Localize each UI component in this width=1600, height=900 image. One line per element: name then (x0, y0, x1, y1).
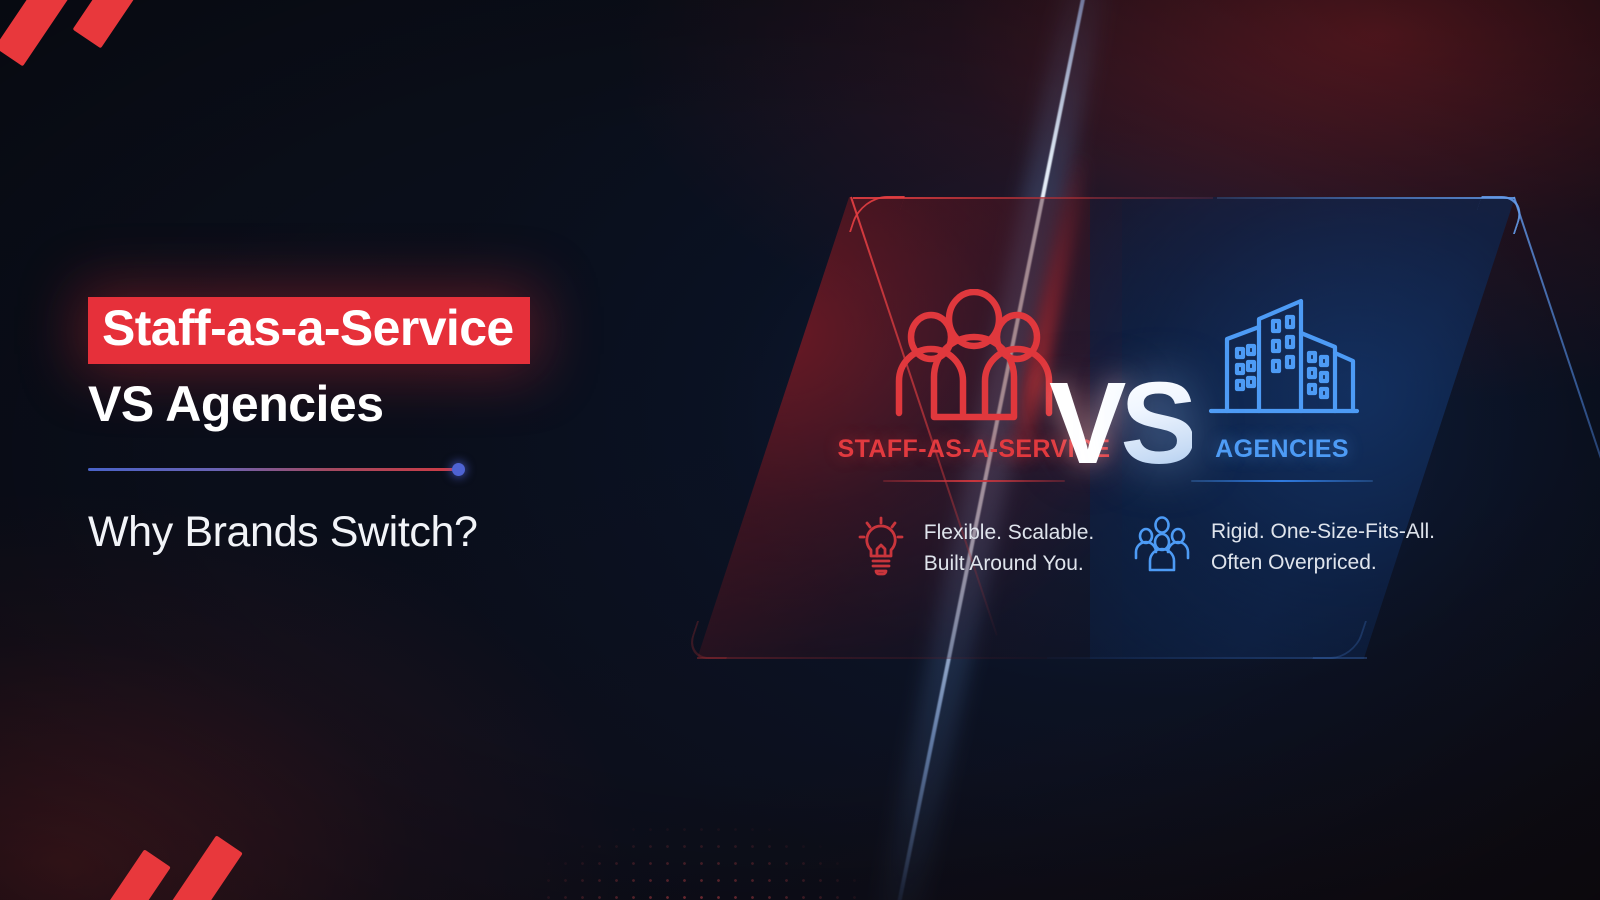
footnote-line-1: Rigid. One-Size-Fits-All. (1211, 520, 1435, 543)
page-title-highlight: Staff-as-a-Service (102, 302, 514, 355)
footnote-line-2: Often Overpriced. (1211, 548, 1435, 578)
panel-left-footnote: Flexible. Scalable. Built Around You. (854, 516, 1094, 581)
panel-right-footnote-text: Rigid. One-Size-Fits-All. Often Overpric… (1211, 517, 1435, 578)
panel-right-heading: AGENCIES (1215, 435, 1349, 464)
panel-left-rule (883, 480, 1065, 482)
vs-letter-v: V (1049, 358, 1120, 488)
footnote-line-1: Flexible. Scalable. (924, 521, 1094, 544)
divider-dot (452, 463, 465, 476)
lightbulb-icon (858, 516, 904, 581)
gradient-divider (88, 463, 466, 475)
office-buildings-icon (1197, 281, 1367, 421)
page-title-line2: VS Agencies (88, 378, 728, 431)
vs-letter-s: S (1120, 358, 1191, 488)
page-subtitle: Why Brands Switch? (88, 509, 728, 556)
hero-text-block: Staff-as-a-Service VS Agencies Why Brand… (88, 297, 728, 556)
title-highlight-band: Staff-as-a-Service (88, 297, 530, 364)
panel-right-rule (1191, 480, 1373, 482)
people-group-icon (885, 281, 1063, 421)
dot-grid-pattern (540, 770, 870, 900)
panel-left-footnote-text: Flexible. Scalable. Built Around You. (924, 518, 1094, 579)
poster-canvas: Staff-as-a-Service VS Agencies Why Brand… (0, 0, 1600, 900)
people-group-small-icon (1133, 516, 1191, 579)
panel-right-footnote: Rigid. One-Size-Fits-All. Often Overpric… (1129, 516, 1435, 579)
divider-line (88, 468, 458, 471)
vs-label: VS (1049, 365, 1192, 481)
footnote-line-2: Built Around You. (924, 549, 1094, 579)
comparison-card: STAFF-AS-A-SERVICE Flexible. Scalable. B… (697, 197, 1515, 659)
